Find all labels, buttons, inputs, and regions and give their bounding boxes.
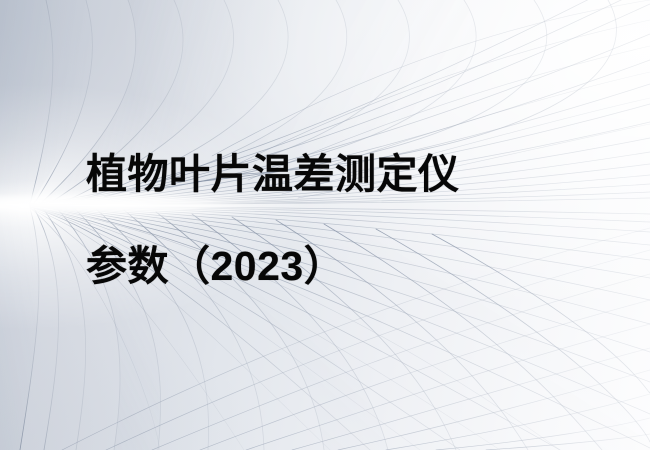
title-line-secondary: 参数（2023） [86, 220, 556, 312]
title-line-primary: 植物叶片温差测定仪 [86, 128, 556, 220]
banner-title: 植物叶片温差测定仪 参数（2023） [86, 128, 556, 312]
title-banner: 植物叶片温差测定仪 参数（2023） [0, 0, 650, 450]
